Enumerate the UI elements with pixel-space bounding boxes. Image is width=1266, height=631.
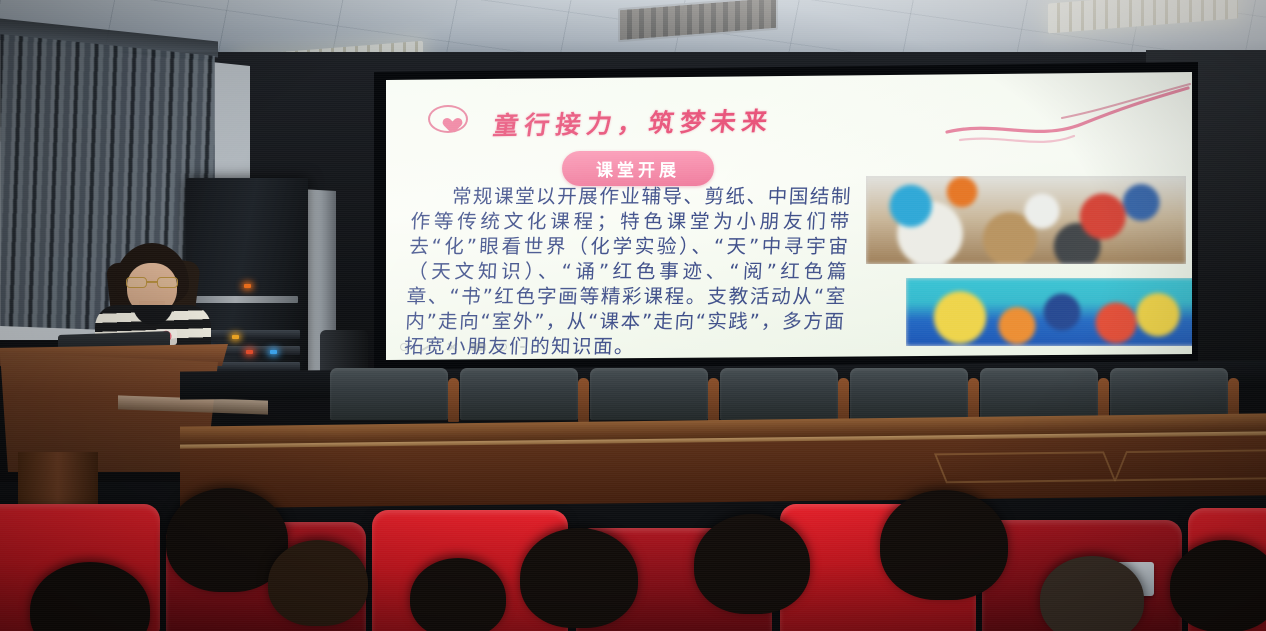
audience-head xyxy=(880,490,1008,600)
glasses-icon xyxy=(126,277,178,288)
seat-back xyxy=(850,368,968,420)
slide-body-text: 常规课堂以开展作业辅导、剪纸、中国结制作等传统文化课程；特色课堂为小朋友们带去“… xyxy=(403,184,852,359)
heart-icon xyxy=(439,112,457,128)
pointer-icon[interactable] xyxy=(400,343,408,351)
presentation-toolbar[interactable] xyxy=(400,341,525,352)
rack-led-amber xyxy=(232,335,239,339)
front-row-seats-red xyxy=(0,470,1266,631)
audience-head xyxy=(268,540,368,626)
seat-back xyxy=(590,368,708,420)
seat-back xyxy=(460,368,578,420)
lecture-hall-photo: 童行接力，筑梦未来 课堂开展 常规课堂以开展作业辅导、剪纸、中国结制作等传统文化… xyxy=(0,0,1266,631)
seat-armrest xyxy=(578,378,589,422)
seat-back xyxy=(720,368,838,420)
rack-led-cyan xyxy=(270,350,277,354)
rack-led-red xyxy=(246,350,253,354)
ribbon-decoration xyxy=(942,80,1192,158)
projection-screen[interactable]: 童行接力，筑梦未来 课堂开展 常规课堂以开展作业辅导、剪纸、中国结制作等传统文化… xyxy=(386,72,1192,360)
seat-back xyxy=(1110,368,1228,420)
slide-title: 童行接力，筑梦未来 xyxy=(491,102,776,143)
seat-back xyxy=(330,368,448,420)
seat-armrest xyxy=(968,378,979,422)
rect-icon[interactable] xyxy=(471,343,486,351)
audience-head xyxy=(694,514,810,614)
audience-head xyxy=(1170,540,1266,631)
dot-icon[interactable] xyxy=(499,343,507,351)
seat-back xyxy=(980,368,1098,420)
close-icon[interactable] xyxy=(447,341,458,352)
photo-classroom-group-activity xyxy=(906,278,1192,346)
photo-1-content xyxy=(866,176,1186,264)
seat-armrest xyxy=(838,378,849,422)
photo-2-content xyxy=(906,278,1192,346)
more-icon[interactable] xyxy=(520,346,525,348)
audience-head xyxy=(410,558,506,631)
photo-children-craft-activity xyxy=(866,176,1186,264)
heart-in-oval-logo xyxy=(428,105,468,133)
seat-armrest xyxy=(448,378,459,422)
rack-led-orange xyxy=(244,284,251,288)
pen-icon[interactable] xyxy=(421,342,433,350)
slide-section-badge: 课堂开展 xyxy=(562,151,714,186)
seat-armrest xyxy=(708,378,719,422)
presentation-slide: 童行接力，筑梦未来 课堂开展 常规课堂以开展作业辅导、剪纸、中国结制作等传统文化… xyxy=(386,72,1192,360)
audience-head xyxy=(520,528,638,628)
